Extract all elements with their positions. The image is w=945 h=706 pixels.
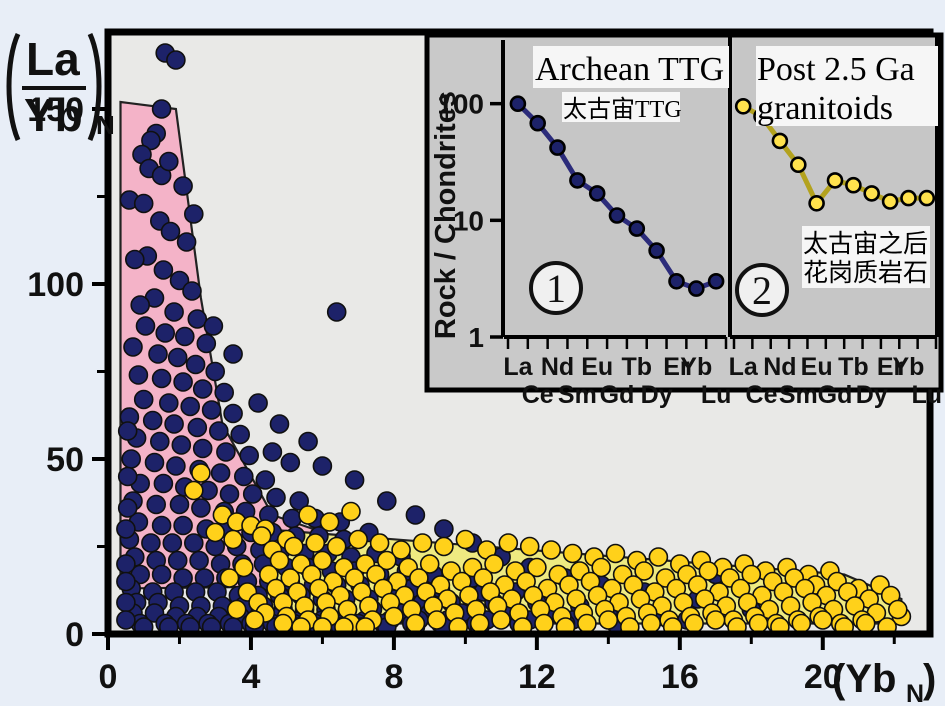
ree-label-Nd: Nd [541,353,574,381]
data-point [271,415,289,433]
y-axis-label-numerator: La [26,33,80,85]
ree-label-Dy: Dy [641,381,673,409]
data-point [165,303,183,321]
data-point [185,205,203,223]
data-point [119,499,137,517]
data-point [149,345,167,363]
data-point [224,345,242,363]
data-point [235,468,253,486]
ree-label-Sm: Sm [558,381,597,409]
data-point [542,541,560,559]
data-point [176,328,194,346]
inset-marker [883,195,897,209]
inset-marker [773,134,787,148]
data-point [274,615,292,633]
data-point [599,611,617,629]
x-tick-label: 4 [241,658,260,696]
data-point [162,223,180,241]
data-point [185,534,203,552]
data-point [119,468,137,486]
data-point [174,373,192,391]
data-point [456,531,474,549]
ree-label-Eu: Eu [581,353,613,381]
ree-label-Yb: Yb [680,353,712,381]
inset-marker [670,274,684,288]
data-point [249,394,267,412]
data-point [181,398,199,416]
data-point [221,569,239,587]
data-point [153,517,171,535]
inset-panel-2-title-line1: Post 2.5 Ga [757,51,915,88]
data-point [313,457,331,475]
data-point [131,296,149,314]
data-point [328,538,346,556]
data-point [814,611,832,629]
data-point [240,447,258,465]
data-point [707,611,725,629]
data-point [124,338,142,356]
ree-label-Gd: Gd [600,381,635,409]
ree-label-La: La [729,353,759,381]
data-point [217,443,235,461]
data-point [346,471,364,489]
data-point [190,552,208,570]
data-point [212,464,230,482]
ree-label-Dy: Dy [856,381,888,409]
x-tick-label: 0 [99,658,118,696]
ree-label-Nd: Nd [763,353,796,381]
data-point [889,601,907,619]
inset-marker [902,191,916,205]
data-point [564,545,582,563]
data-point [151,433,169,451]
data-point [178,233,196,251]
ree-label-Tb: Tb [622,353,653,381]
data-point [169,552,187,570]
data-point [406,506,424,524]
data-point [371,534,389,552]
inset-panel-2-number: 2 [752,268,772,313]
inset-y-tick-label: 1 [468,322,484,353]
data-point [224,531,242,549]
data-point [492,611,510,629]
data-point [135,391,153,409]
x-tick-label: 16 [661,658,699,696]
data-point [342,503,360,521]
inset-marker [920,191,934,205]
data-point [192,464,210,482]
data-point [185,482,203,500]
data-point [857,615,875,633]
ree-label-Sm: Sm [779,381,818,409]
data-point [228,601,246,619]
inset-marker [791,158,805,172]
data-point [299,433,317,451]
data-point [471,615,489,633]
data-point [167,457,185,475]
data-point [153,100,171,118]
data-point [535,615,553,633]
data-point [281,454,299,472]
data-point [165,415,183,433]
data-point [750,615,768,633]
data-point [146,454,164,472]
data-point [187,356,205,374]
data-point [160,153,178,171]
data-point [285,538,303,556]
data-point [215,384,233,402]
ree-label-Lu: Lu [701,381,732,409]
data-point [135,195,153,213]
data-point [147,496,165,514]
inset-panel-2-title-line2: granitoids [757,90,893,127]
data-point [194,380,212,398]
data-point [685,615,703,633]
x-axis-label-main: (Yb [832,657,896,701]
data-point [117,573,135,591]
data-point [183,282,201,300]
data-point [499,534,517,552]
data-point [224,405,242,423]
inset-panel-1-title: Archean TTG [535,51,724,88]
inset-panel-2-title-cn-line2: 花岗质岩石 [803,259,928,287]
data-point [321,513,339,531]
data-point [194,440,212,458]
ree-label-Gd: Gd [818,381,853,409]
data-point [163,534,181,552]
data-point [117,555,135,573]
data-point [385,608,403,626]
data-point [154,475,172,493]
data-point [244,485,262,503]
x-axis-label-subscript: N [906,680,924,706]
y-tick-label: 0 [65,616,84,654]
x-axis-label-close: ) [923,657,936,701]
data-point [137,317,155,335]
data-point [117,611,135,629]
inset-container: 110100Rock / ChondritesLaNdEuTbErYbCeSmG… [427,35,942,409]
ree-label-Lu: Lu [912,381,943,409]
data-point [160,394,178,412]
inset-panel-1-number: 1 [546,266,566,311]
data-point [203,401,221,419]
y-axis-label-subscript: N [96,110,115,140]
data-point [246,611,264,629]
data-point [607,545,625,563]
ree-label-La: La [503,353,533,381]
x-tick-label: 12 [518,658,556,696]
data-point [153,566,171,584]
data-point [119,422,137,440]
inset-marker [551,141,565,155]
inset-marker [630,222,644,236]
data-point [231,426,249,444]
data-point [154,261,172,279]
inset-marker [709,274,723,288]
data-point [283,510,301,528]
inset-marker [650,244,664,258]
data-point [378,492,396,510]
ree-label-Yb: Yb [892,353,924,381]
data-point [221,485,239,503]
ree-label-Ce: Ce [746,381,778,409]
data-point [328,303,346,321]
data-point [192,499,210,517]
data-point [144,412,162,430]
scatter-figure: 048121620050100150LaYbN(YbN)110100Rock /… [0,0,945,706]
data-point [117,520,135,538]
ree-label-Ce: Ce [522,381,554,409]
data-point [171,496,189,514]
inset-y-axis-title: Rock / Chondrites [430,91,462,339]
data-point [188,419,206,437]
data-point [117,594,135,612]
data-point [414,534,432,552]
inset-marker [736,99,750,113]
data-point [122,450,140,468]
data-point [263,443,281,461]
inset-marker [570,173,584,187]
data-point [428,611,446,629]
data-point [435,520,453,538]
inset-marker [846,178,860,192]
inset-marker [810,196,824,210]
data-point [153,370,171,388]
data-point [206,363,224,381]
y-tick-label: 50 [46,441,84,479]
data-point [349,531,367,549]
inset-panel-2-title-cn-line1: 太古宙之后 [803,230,928,258]
data-point [142,534,160,552]
data-point [578,615,596,633]
data-point [256,471,274,489]
data-point [156,324,174,342]
data-point [169,349,187,367]
y-tick-label: 100 [27,266,84,304]
data-point [792,615,810,633]
inset-marker [531,116,545,130]
data-point [521,538,539,556]
inset-panel-1-title-cn: 太古宙TTG [563,96,682,123]
inset-marker [828,173,842,187]
data-point [167,51,185,69]
data-point [126,251,144,269]
x-tick-label: 8 [384,658,403,696]
data-point [174,517,192,535]
y-axis-label-denominator: Yb [24,89,83,141]
data-point [267,489,285,507]
data-point [406,615,424,633]
data-point [174,177,192,195]
ree-label-Tb: Tb [838,353,869,381]
data-point [172,436,190,454]
inset-marker [590,186,604,200]
data-point [204,317,222,335]
data-point [210,422,228,440]
ree-label-Eu: Eu [801,353,833,381]
data-point [642,615,660,633]
data-point [188,310,206,328]
data-point [299,506,317,524]
inset-marker [865,186,879,200]
data-point [649,548,667,566]
inset-marker [689,282,703,296]
data-point [129,366,147,384]
inset-marker [511,97,525,111]
data-point [197,335,215,353]
data-point [306,534,324,552]
figure-root: 048121620050100150LaYbN(YbN)110100Rock /… [0,0,945,706]
data-point [206,524,224,542]
data-point [435,538,453,556]
inset-marker [610,209,624,223]
